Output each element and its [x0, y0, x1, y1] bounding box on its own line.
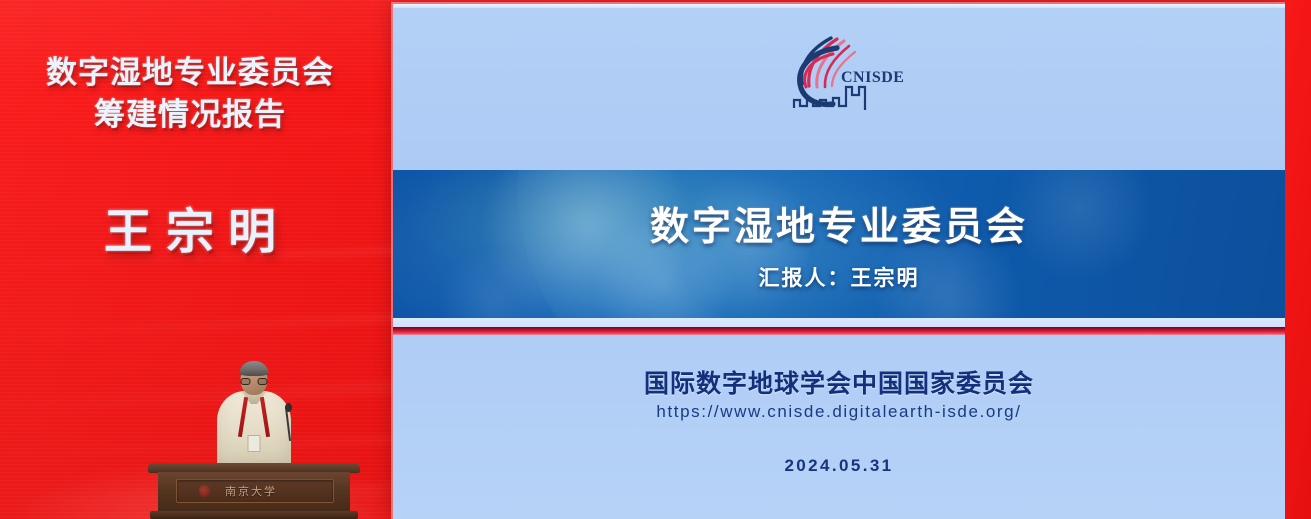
- backdrop-speaker-name: 王宗明: [0, 192, 380, 262]
- right-backdrop-strip: [1285, 0, 1311, 519]
- slide-organization-name: 国际数字地球学会中国国家委员会: [393, 364, 1285, 400]
- screen-top-edge: [393, 4, 1285, 8]
- podium-body: 南京大学: [158, 472, 350, 513]
- backdrop-headline-line-2: 筹建情况报告: [0, 94, 380, 136]
- presenter-figure: [215, 363, 293, 473]
- podium: 南京大学: [148, 463, 360, 519]
- microphone-icon: [285, 403, 292, 412]
- podium-front-panel: 南京大学: [176, 479, 334, 503]
- slide-date: 2024.05.31: [393, 456, 1285, 476]
- backdrop-headline-line-1: 数字湿地专业委员会: [0, 52, 380, 94]
- presenter-at-podium: 南京大学: [148, 367, 360, 519]
- slide-title-band: 数字湿地专业委员会 汇报人：王宗明: [393, 170, 1285, 318]
- presenter-hair: [240, 361, 269, 376]
- university-emblem-icon: [199, 485, 210, 497]
- projection-screen: CNISDE 数字湿地专业委员会 汇报人：王宗明 国际数字地球学会中国国家委员会: [393, 4, 1285, 519]
- glasses-icon: [241, 378, 268, 386]
- screenshot-root: 数字湿地专业委员会 筹建情况报告 王宗明 南京大学: [0, 0, 1311, 519]
- slide-logo-area: CNISDE: [393, 32, 1285, 116]
- slide-presenter-line: 汇报人：王宗明: [393, 262, 1285, 292]
- slide-title: 数字湿地专业委员会: [393, 196, 1285, 252]
- podium-base: [150, 511, 358, 519]
- slide-organization-url[interactable]: https://www.cnisde.digitalearth-isde.org…: [393, 402, 1285, 422]
- svg-text:CNISDE: CNISDE: [841, 69, 903, 86]
- cnisde-logo: CNISDE: [775, 32, 903, 116]
- slide-separator-light: [393, 318, 1285, 327]
- podium-calligraphy-text: 南京大学: [225, 483, 325, 499]
- slide-separator-red: [393, 327, 1285, 335]
- backdrop-headline: 数字湿地专业委员会 筹建情况报告: [0, 52, 380, 136]
- presenter-badge: [248, 435, 261, 452]
